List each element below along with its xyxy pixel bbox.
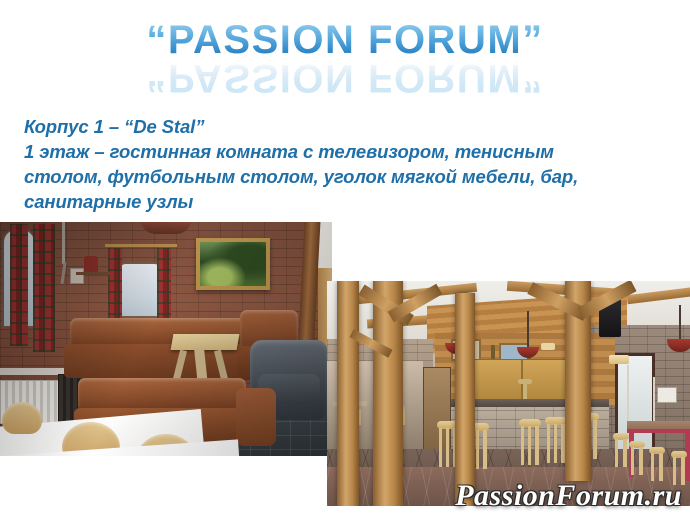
- lamp-cord: [527, 311, 529, 347]
- dining-table-frame: [627, 429, 690, 433]
- wall-sign: [657, 387, 677, 403]
- lounge-scene: [0, 222, 332, 456]
- dining-chair: [613, 433, 629, 467]
- body-line-3: столом, футбольным столом, уголок мягкой…: [24, 164, 664, 189]
- bar-photo: [327, 281, 690, 506]
- stool-legs: [547, 424, 565, 463]
- slide-title-block: “PASSION FORUM” “PASSION FORUM”: [0, 18, 690, 98]
- photo-shading: [0, 222, 332, 456]
- body-text-block: Корпус 1 – “De Stal” 1 этаж – гостинная …: [24, 114, 664, 214]
- dining-chair: [629, 441, 645, 475]
- wall-lamp: [609, 355, 629, 364]
- page-title-reflection: “PASSION FORUM”: [0, 56, 690, 100]
- slide: “PASSION FORUM” “PASSION FORUM” Корпус 1…: [0, 0, 690, 517]
- bar-scene: [327, 281, 690, 506]
- timber-post: [455, 293, 475, 506]
- watermark: PassionForum.ru: [455, 479, 682, 513]
- dining-chair: [649, 447, 665, 481]
- stool-legs: [521, 426, 539, 465]
- page-title: “PASSION FORUM”: [0, 18, 690, 62]
- chair-legs: [631, 447, 643, 475]
- lamp-cord: [679, 305, 681, 339]
- bar-stool: [545, 417, 567, 463]
- body-line-1: Корпус 1 – “De Stal”: [24, 114, 664, 139]
- chair-legs: [651, 453, 663, 481]
- bottle: [491, 345, 495, 359]
- bar-stool: [519, 419, 541, 465]
- chair-legs: [615, 439, 627, 467]
- body-line-4: санитарные узлы: [24, 189, 664, 214]
- lounge-photo: [0, 222, 332, 456]
- wall-lamp: [541, 343, 555, 350]
- body-line-2: 1 этаж – гостинная комната с телевизором…: [24, 139, 664, 164]
- beer-tap: [523, 379, 527, 401]
- timber-post: [337, 281, 359, 506]
